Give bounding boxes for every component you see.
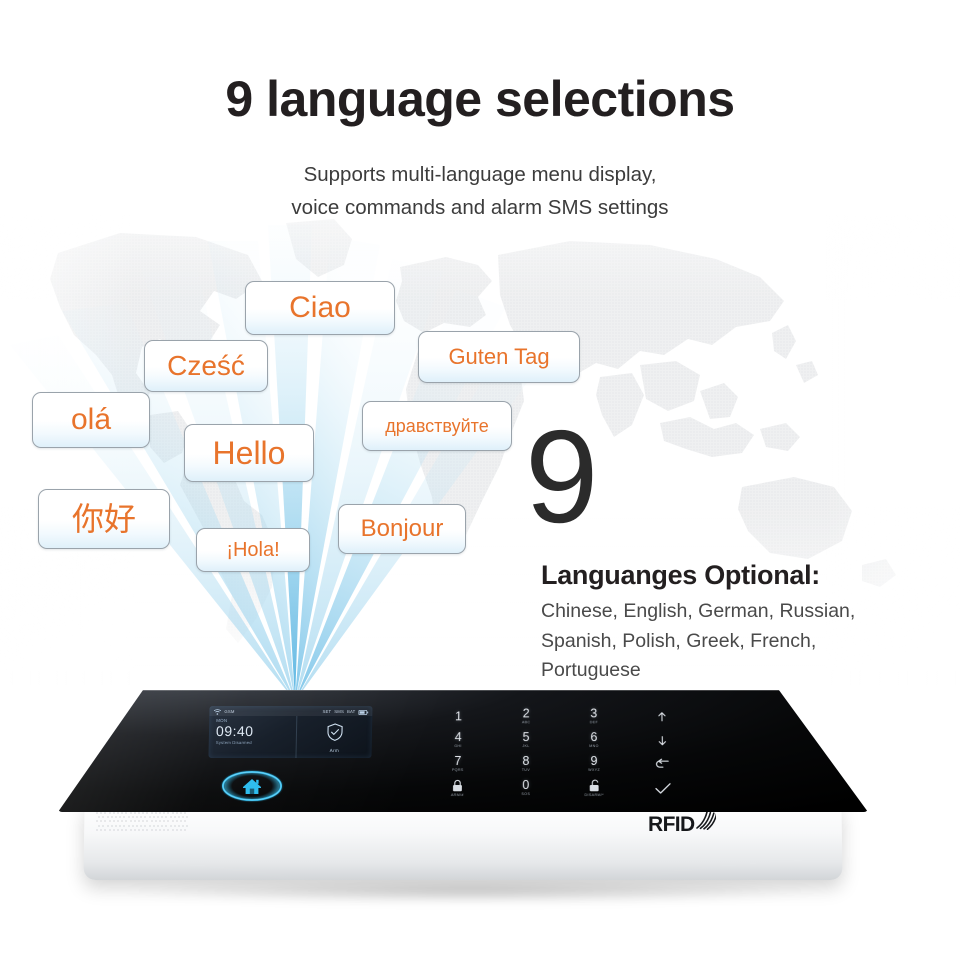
grille-dot [100,812,102,814]
key-4[interactable]: 4GHI [424,728,492,752]
key-5-digit: 5 [523,732,530,744]
alarm-panel-device: RFID [58,690,910,905]
key-8[interactable]: 8TUV [492,752,560,776]
bubble-italian-label: Ciao [289,293,351,323]
key-3-sublabel: DEF [590,721,598,725]
grille-dot [98,825,100,827]
lcd-arm-label: Arm [330,748,339,753]
speaker-grille [96,812,192,834]
rfid-wave-icon [694,810,716,835]
device-lcd-screen: GSM SET SMS BAT MON 09:40 System Disarme… [208,706,372,758]
bubble-polish: Cześć [144,340,268,392]
grille-dot [96,812,98,814]
grille-dot [159,820,161,822]
key-2[interactable]: 2ABC [492,705,560,729]
language-count-number: 9 [525,418,596,537]
grille-dot [172,820,174,822]
lock-closed-icon [451,779,463,793]
device-white-body [83,802,842,880]
lcd-status-bar: GSM SET SMS BAT [209,706,372,716]
key-arm-sublabel: ARM/# [451,794,464,798]
grille-dot [155,812,157,814]
grille-dot [176,812,178,814]
grille-dot [178,816,180,818]
key-9-sublabel: WXYZ [588,769,600,773]
grille-dot [184,829,186,831]
grille-dot [121,820,123,822]
device-keypad[interactable]: 12ABC3DEF4GHI5JKL6MNO7PQRS8TUV9WXYZARM/#… [423,705,697,800]
grille-dot [142,829,144,831]
rfid-label: RFID [648,814,695,835]
grille-dot [178,825,180,827]
grille-dot [104,829,106,831]
key-6[interactable]: 6MNO [560,728,628,752]
languages-line-1: Chinese, English, German, Russian, [541,597,941,627]
grille-dot [102,816,104,818]
grille-dot [138,812,140,814]
grille-dot [161,825,163,827]
grille-dot [119,816,121,818]
grille-dot [146,820,148,822]
page-subtitle: Supports multi-language menu display, vo… [0,158,960,224]
key-8-sublabel: TUV [522,769,530,773]
bubble-german-label: Guten Tag [448,346,549,368]
key-9[interactable]: 9WXYZ [560,752,628,776]
grille-dot [104,812,106,814]
grille-dot [151,820,153,822]
grille-dot [149,816,151,818]
lcd-bat-label: BAT [347,709,356,714]
key-4-digit: 4 [455,732,462,744]
subtitle-line-2: voice commands and alarm SMS settings [0,191,960,224]
grille-dot [113,812,115,814]
grille-dot [180,820,182,822]
key-5[interactable]: 5JKL [492,728,560,752]
grille-dot [121,829,123,831]
key-arm[interactable]: ARM/# [423,776,492,800]
grille-dot [144,825,146,827]
subtitle-line-1: Supports multi-language menu display, [0,158,960,191]
grille-dot [132,816,134,818]
grille-dot [180,829,182,831]
grille-dot [130,829,132,831]
grille-dot [182,816,184,818]
bubble-english: Hello [184,424,314,482]
grille-dot [180,812,182,814]
key-7-sublabel: PQRS [452,769,464,773]
grille-dot [146,829,148,831]
grille-dot [151,812,153,814]
key-confirm[interactable] [628,776,697,800]
grille-dot [172,829,174,831]
languages-line-3: Portuguese [541,656,941,686]
grille-dot [117,820,119,822]
key-2-sublabel: ABC [522,721,530,725]
grille-dot [170,825,172,827]
grille-dot [96,829,98,831]
bubble-german: Guten Tag [418,331,580,383]
lcd-arm-panel: Arm [296,716,372,758]
grille-dot [151,829,153,831]
key-up[interactable] [628,705,696,729]
bubble-russian-label: дравствуйте [385,417,488,435]
grille-dot [153,816,155,818]
bubble-english-label: Hello [213,437,286,469]
lock-open-icon [588,779,601,793]
product-marketing-banner: 9 language selections Supports multi-lan… [0,0,960,960]
key-down[interactable] [628,728,696,752]
key-3-digit: 3 [590,708,597,720]
grille-dot [142,820,144,822]
lcd-clock-panel: MON 09:40 System Disarmed [208,716,296,758]
grille-dot [119,825,121,827]
key-1[interactable]: 1 [424,705,492,729]
grille-dot [144,816,146,818]
grille-dot [186,825,188,827]
key-2-digit: 2 [523,708,530,720]
grille-dot [153,825,155,827]
arrow-down-icon [655,734,668,747]
grille-dot [134,820,136,822]
key-disarm-sublabel: DISARM/* [585,794,604,798]
grille-dot [174,825,176,827]
lcd-content: MON 09:40 System Disarmed Arm [208,716,372,758]
bubble-spanish: ¡Hola! [196,528,310,572]
grille-dot [125,812,127,814]
bubble-french: Bonjour [338,504,466,554]
grille-dot [115,825,117,827]
grille-dot [104,820,106,822]
grille-dot [184,820,186,822]
grille-dot [159,829,161,831]
grille-dot [107,816,109,818]
lcd-sms-label: SMS [334,709,344,714]
bubble-portuguese-label: olá [71,405,111,435]
grille-dot [117,812,119,814]
shield-icon [324,722,345,747]
grille-dot [111,825,113,827]
grille-dot [115,816,117,818]
bubble-russian: дравствуйте [362,401,512,451]
grille-dot [125,820,127,822]
grille-dot [157,816,159,818]
grille-dot [123,825,125,827]
grille-dot [100,829,102,831]
key-7[interactable]: 7PQRS [424,752,492,776]
check-icon [654,781,671,794]
languages-optional-heading: Languanges Optional: [541,560,820,591]
key-0[interactable]: 0SOS [492,776,560,800]
lcd-set-label: SET [323,709,332,714]
grille-dot [98,816,100,818]
key-8-digit: 8 [522,755,529,767]
key-6-digit: 6 [590,732,597,744]
grille-dot [167,812,169,814]
languages-optional-list: Chinese, English, German, Russian, Spani… [541,597,941,686]
key-disarm[interactable]: DISARM/* [560,776,628,800]
grille-dot [184,812,186,814]
key-0-digit: 0 [522,779,529,792]
grille-dot [163,829,165,831]
bubble-polish-label: Cześć [167,352,245,380]
grille-dot [102,825,104,827]
grille-dot [165,825,167,827]
device-drop-shadow [120,880,820,902]
grille-dot [159,812,161,814]
grille-dot [182,825,184,827]
grille-dot [142,812,144,814]
grille-dot [109,829,111,831]
grille-dot [163,820,165,822]
grille-dot [100,820,102,822]
grille-dot [117,829,119,831]
languages-line-2: Spanish, Polish, Greek, French, [541,627,941,657]
grille-dot [140,816,142,818]
grille-dot [167,829,169,831]
key-9-digit: 9 [591,755,598,767]
key-1-digit: 1 [455,710,462,722]
lcd-gsm-label: GSM [224,709,234,714]
bubble-portuguese: olá [32,392,150,448]
grille-dot [134,812,136,814]
grille-dot [111,816,113,818]
grille-dot [176,829,178,831]
grille-dot [186,816,188,818]
back-arrow-icon [654,758,670,770]
grille-dot [125,829,127,831]
bubble-chinese-label: 你好 [72,503,136,535]
bubble-spanish-label: ¡Hola! [226,540,279,560]
grille-dot [146,812,148,814]
key-6-sublabel: MNO [589,745,598,749]
bubble-italian: Ciao [245,281,395,335]
grille-dot [167,820,169,822]
grille-dot [161,816,163,818]
grille-dot [109,820,111,822]
grille-dot [136,825,138,827]
grille-dot [132,825,134,827]
grille-dot [174,816,176,818]
grille-dot [157,825,159,827]
grille-dot [172,812,174,814]
grille-dot [128,816,130,818]
grille-dot [123,816,125,818]
grille-dot [149,825,151,827]
grille-dot [113,820,115,822]
grille-dot [155,820,157,822]
page-title: 9 language selections [0,72,960,127]
grille-dot [130,820,132,822]
grille-dot [155,829,157,831]
grille-dot [176,820,178,822]
grille-dot [163,812,165,814]
grille-dot [138,829,140,831]
rfid-badge: RFID [648,814,716,835]
home-button[interactable] [218,768,286,804]
grille-dot [130,812,132,814]
grille-dot [96,820,98,822]
grille-dot [138,820,140,822]
key-7-digit: 7 [454,755,461,767]
key-4-sublabel: GHI [454,745,462,749]
grille-dot [107,825,109,827]
bubble-french-label: Bonjour [361,517,444,541]
grille-dot [165,816,167,818]
lcd-status-text: System Disarmed [216,740,297,745]
key-3[interactable]: 3DEF [560,705,628,729]
grille-dot [140,825,142,827]
grille-dot [170,816,172,818]
lcd-time: 09:40 [216,724,297,738]
key-0-sublabel: SOS [521,793,530,797]
key-back[interactable] [628,752,696,776]
arrow-up-icon [655,710,668,723]
grille-dot [128,825,130,827]
key-5-sublabel: JKL [522,745,529,749]
grille-dot [113,829,115,831]
grille-dot [121,812,123,814]
grille-dot [134,829,136,831]
grille-dot [136,816,138,818]
bubble-chinese: 你好 [38,489,170,549]
grille-dot [109,812,111,814]
